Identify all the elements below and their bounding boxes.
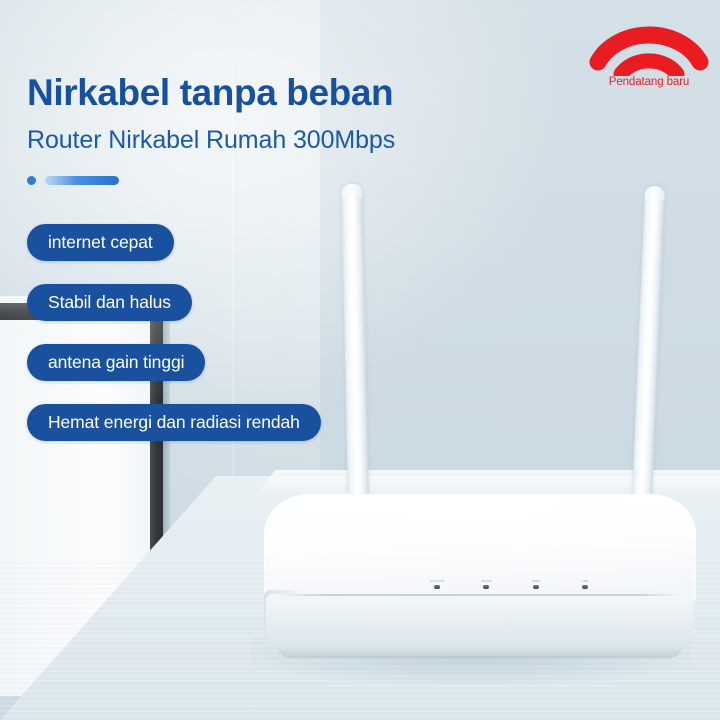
router-indicator-led <box>533 585 539 589</box>
router-indicator: WAN <box>519 580 553 589</box>
feature-pill-hemat-energi: Hemat energi dan radiasi rendah <box>27 404 321 441</box>
router-front-face <box>266 594 694 656</box>
router-top-highlight <box>290 497 662 543</box>
antenna-left-cap <box>341 184 362 198</box>
router-top-face <box>264 494 696 606</box>
feature-pill-stabil-dan-halus: Stabil dan halus <box>27 284 192 321</box>
router-indicator-label: SYSTEM <box>420 580 454 583</box>
router-indicator: WLAN <box>469 580 503 589</box>
antenna-right-cap <box>644 186 665 201</box>
router-indicator-label: WAN <box>519 580 553 583</box>
router-indicator-led <box>434 585 440 589</box>
new-arrival-label: Pendatang baru <box>588 77 710 89</box>
router-indicator-led <box>483 585 489 589</box>
router-indicator: SYSTEM <box>420 580 454 589</box>
accent-dot <box>27 176 36 185</box>
new-arrival-badge: Pendatang baru <box>588 22 710 102</box>
feature-pill-internet-cepat: internet cepat <box>27 224 174 261</box>
accent-rule <box>27 176 119 185</box>
router-indicator-led <box>582 585 588 589</box>
headline: Nirkabel tanpa beban <box>27 74 393 111</box>
wifi-arcs-icon <box>588 22 710 76</box>
router-indicator-row: SYSTEM WLAN WAN LAN <box>420 580 602 589</box>
router-body: SYSTEM WLAN WAN LAN <box>264 494 696 658</box>
router-indicator-label: WLAN <box>469 580 503 583</box>
feature-pill-antena-gain-tinggi: antena gain tinggi <box>27 344 205 381</box>
subheadline: Router Nirkabel Rumah 300Mbps <box>27 128 395 153</box>
router-indicator: LAN <box>568 580 602 589</box>
product-banner: SYSTEM WLAN WAN LAN Nirkabel tanpa beban… <box>0 0 720 720</box>
router-indicator-label: LAN <box>568 580 602 583</box>
accent-bar <box>45 176 119 185</box>
